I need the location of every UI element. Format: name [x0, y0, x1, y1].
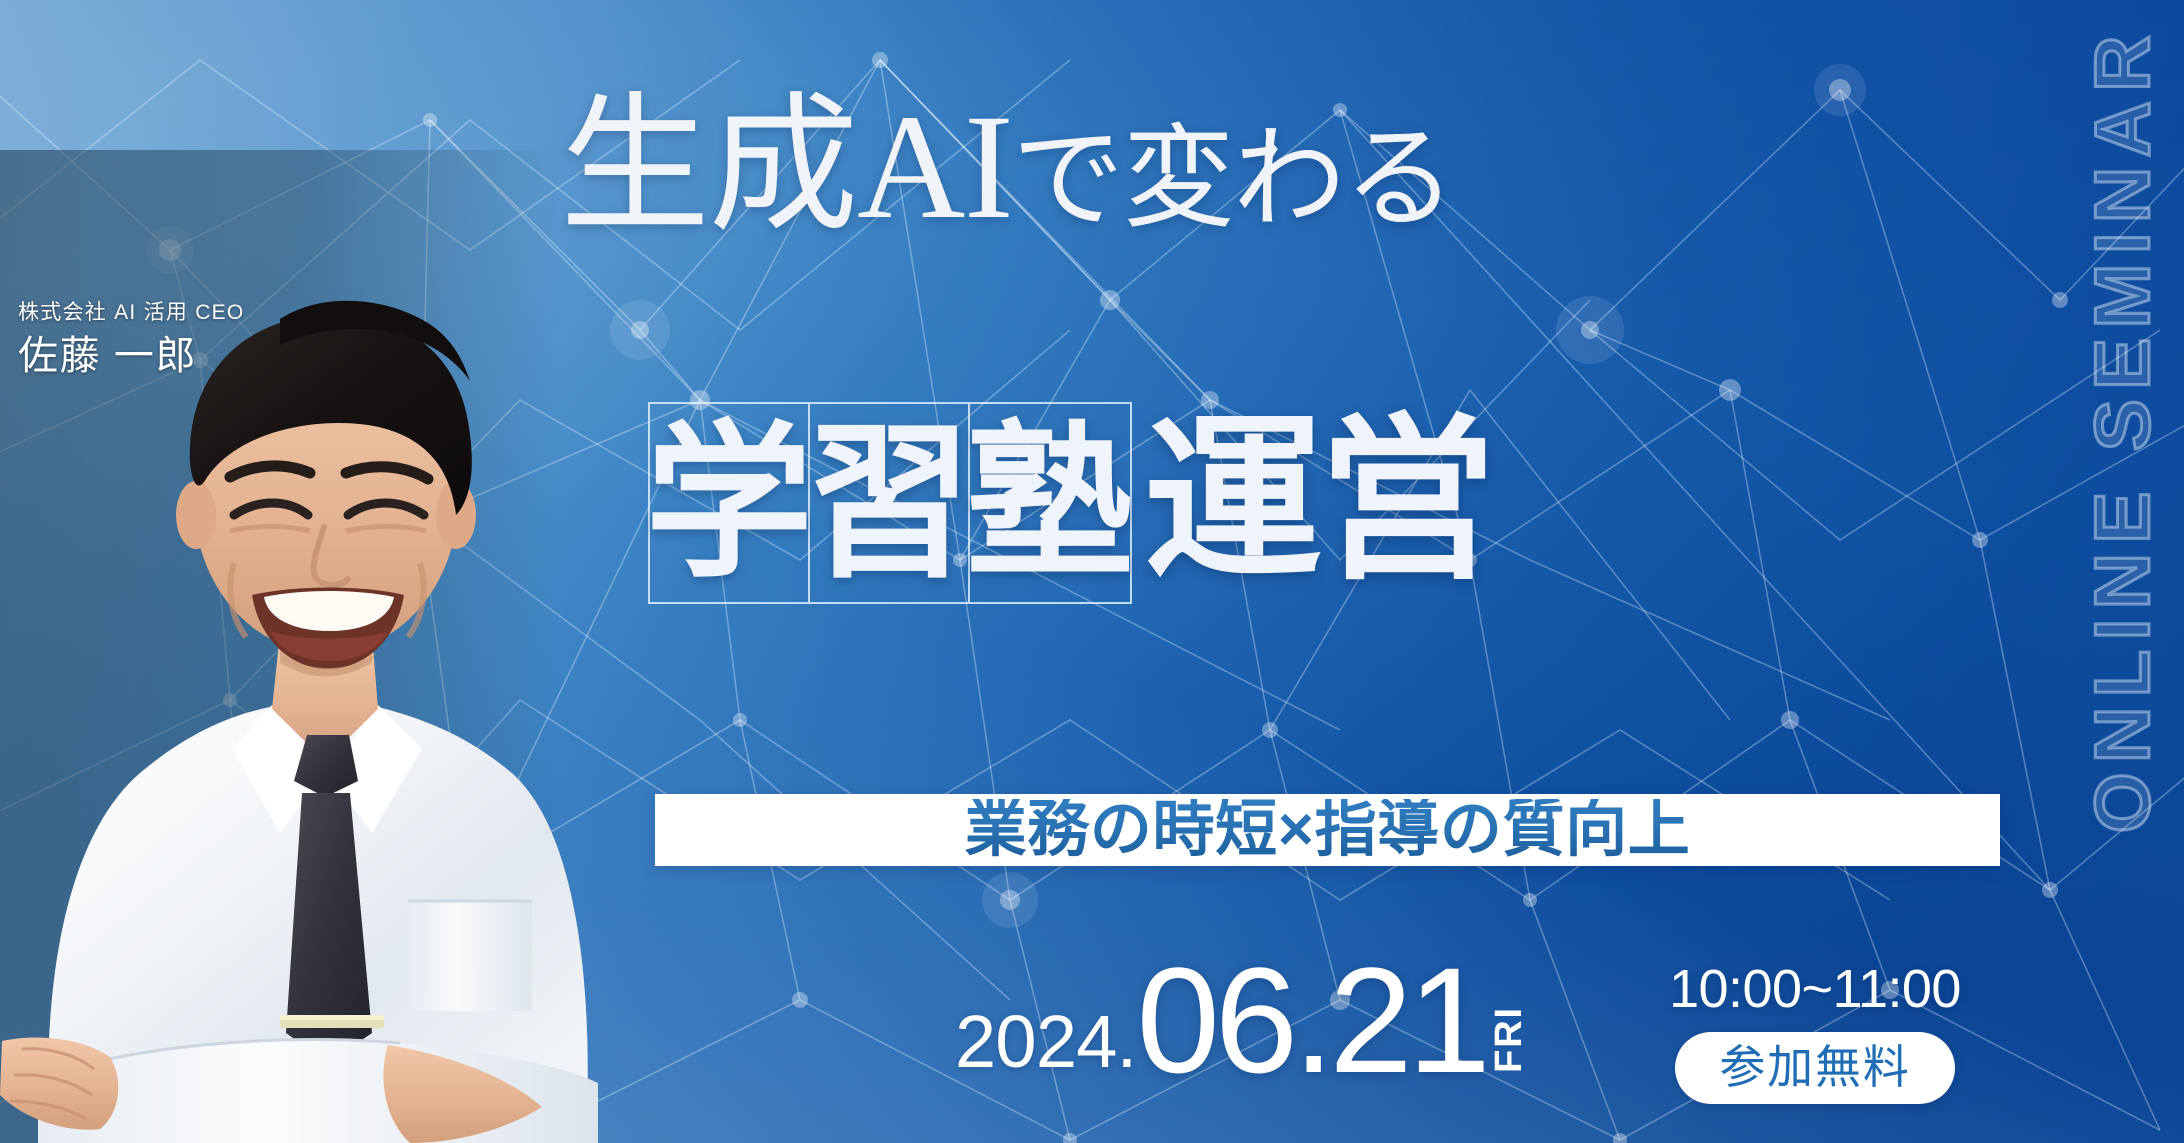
speaker-portrait: [0, 133, 620, 1143]
boxed-title-cell: 学: [650, 404, 810, 602]
boxed-title-cell: 習: [810, 404, 970, 602]
subtitle-text: 業務の時短×指導の質向上: [965, 799, 1691, 861]
speaker-name: 佐藤 一郎: [18, 335, 278, 377]
event-time-block: 10:00~11:00 参加無料: [1655, 962, 1975, 1104]
headline-main: 生成AI: [560, 84, 1012, 250]
online-seminar-vertical-text: ONLINE SEMINAR: [2083, 26, 2161, 833]
headline-suffix: で変わる: [1012, 118, 1454, 242]
online-seminar-vertical-label: ONLINE SEMINAR: [2076, 26, 2168, 1036]
boxed-title: 学 習 塾 運営: [648, 402, 1493, 604]
page-title: 生成AIで変わる: [560, 92, 1650, 242]
subtitle-band: 業務の時短×指導の質向上: [655, 794, 2000, 866]
status-badge: 参加無料: [1675, 1032, 1954, 1104]
event-date-day-of-week: FRI: [1490, 1006, 1528, 1073]
speaker-company-role: 株式会社 AI 活用 CEO: [18, 300, 278, 325]
boxed-title-grid: 学 習 塾: [648, 402, 1132, 604]
webinar-banner: 株式会社 AI 活用 CEO 佐藤 一郎 生成AIで変わる 学 習 塾 運営 業…: [0, 0, 2184, 1143]
boxed-title-tail: 運営: [1144, 402, 1493, 600]
event-time: 10:00~11:00: [1669, 962, 1961, 1016]
event-date: 2024. 06.21 FRI: [955, 955, 1528, 1085]
speaker-info: 株式会社 AI 活用 CEO 佐藤 一郎: [18, 300, 278, 377]
boxed-title-cell: 塾: [970, 404, 1130, 602]
event-date-year: 2024.: [955, 1005, 1136, 1085]
event-date-monthday: 06.21: [1136, 956, 1485, 1085]
